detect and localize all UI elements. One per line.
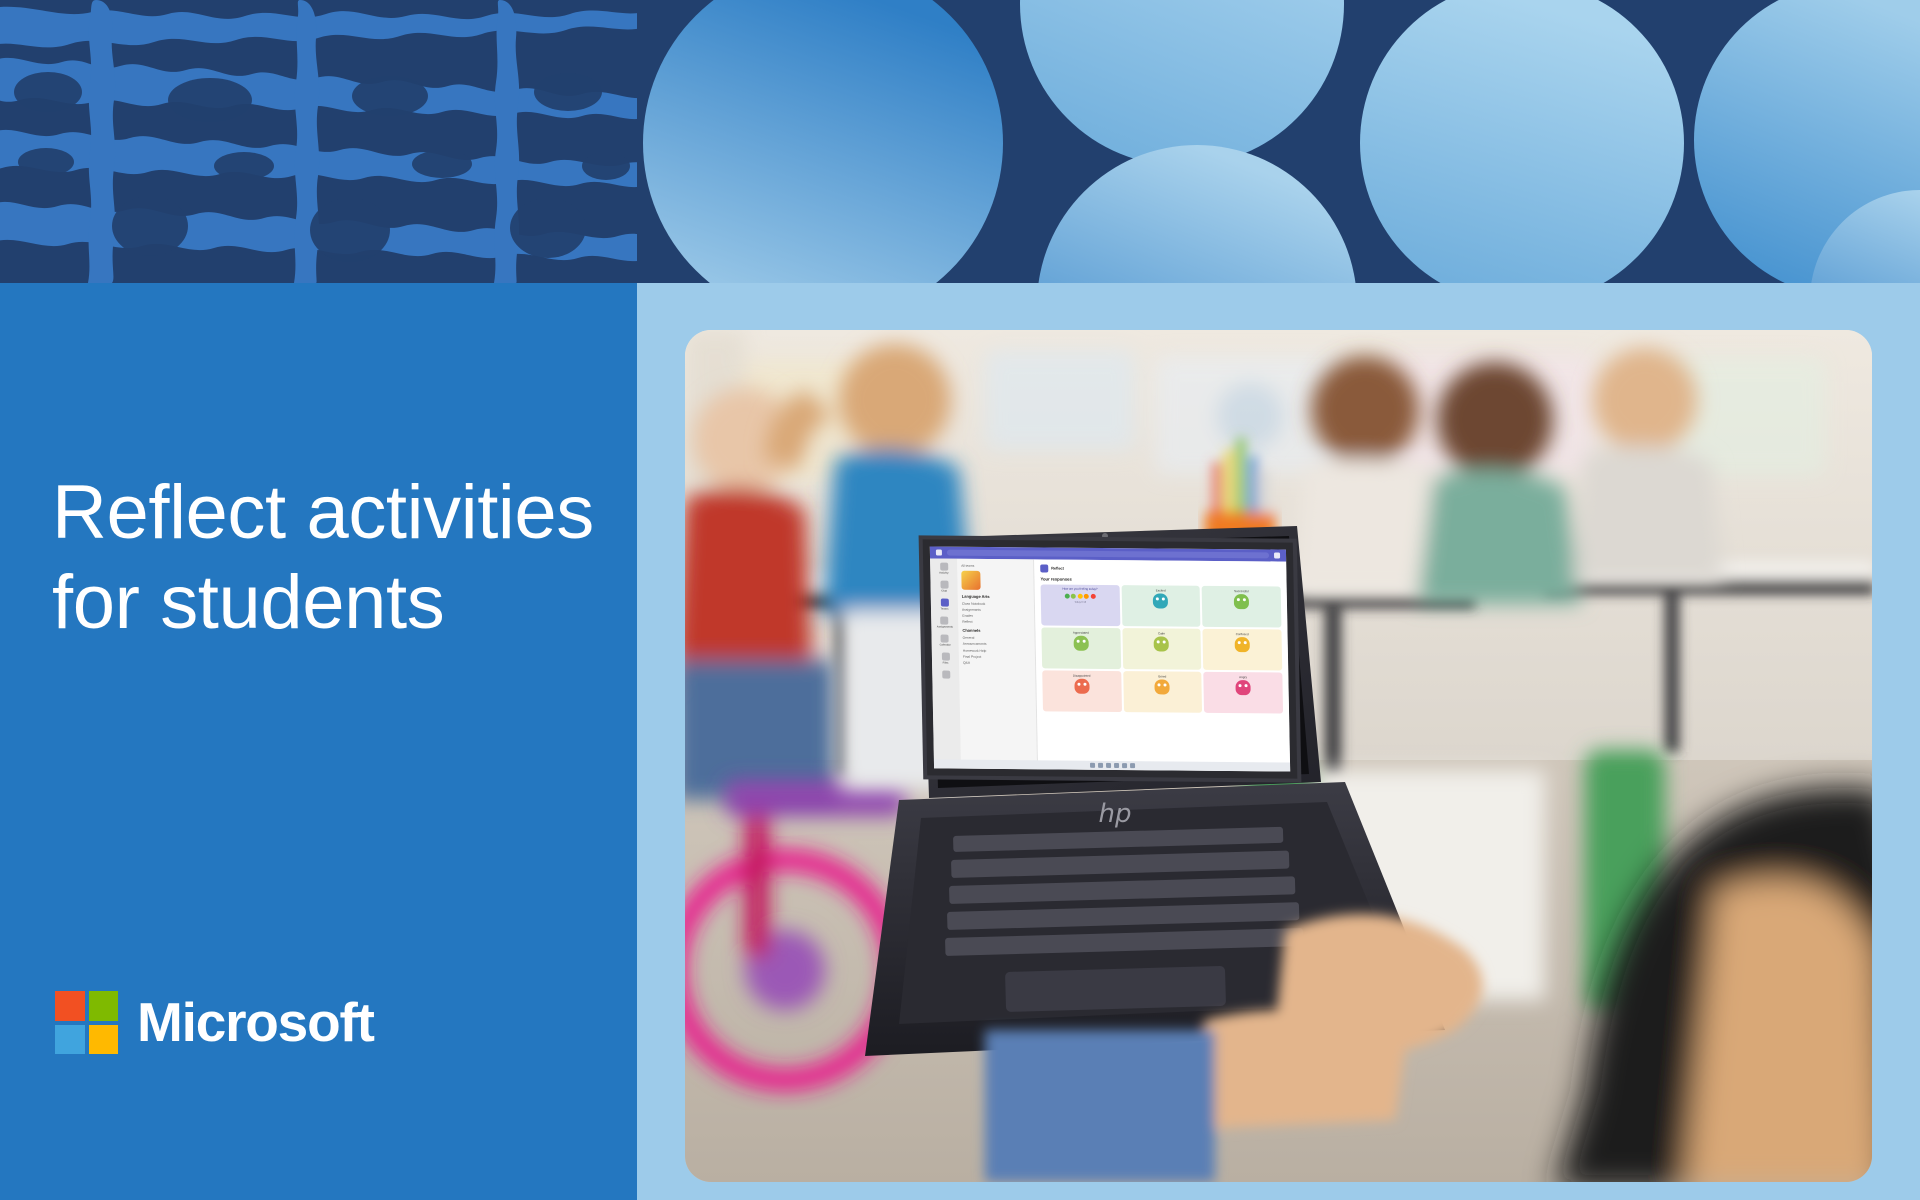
- scale-dot-2[interactable]: [1071, 593, 1076, 598]
- laptop-screen: Activity Chat Teams Assignments: [930, 546, 1290, 771]
- feeling-label: Appreciated: [1073, 631, 1089, 635]
- feeling-label: Angry: [1239, 675, 1247, 679]
- feeling-scale[interactable]: [1065, 593, 1096, 598]
- rail-label: Calendar: [940, 644, 951, 647]
- feeling-card[interactable]: Bored: [1123, 671, 1202, 713]
- title-panel: Reflect activities for students Microsof…: [0, 283, 637, 1200]
- rail-item-more[interactable]: [942, 671, 950, 679]
- calendar-icon: [941, 635, 949, 643]
- feeling-card[interactable]: Disappointed: [1042, 670, 1121, 712]
- feeling-character-icon: [1155, 679, 1170, 694]
- scale-dot-5[interactable]: [1091, 594, 1096, 599]
- rail-item-files[interactable]: Files: [941, 653, 949, 665]
- feeling-label: Successful: [1234, 589, 1249, 593]
- slide-canvas: Reflect activities for students Microsof…: [0, 0, 1920, 1200]
- feeling-card[interactable]: Confused: [1203, 629, 1282, 671]
- tab-reflect[interactable]: Reflect: [1051, 567, 1064, 571]
- search-icon[interactable]: [1097, 763, 1102, 768]
- rail-label: Teams: [940, 608, 948, 611]
- red-square: [55, 991, 85, 1021]
- decorative-texture-panel: [0, 0, 637, 283]
- feeling-character-icon: [1073, 636, 1088, 651]
- classroom-students-photo: hp: [685, 330, 1872, 1182]
- ellipsis-icon: [942, 671, 950, 679]
- microsoft-wordmark: Microsoft: [137, 995, 374, 1050]
- bell-icon: [940, 563, 948, 571]
- team-header[interactable]: [961, 571, 1029, 591]
- feeling-label: Disappointed: [1073, 674, 1091, 678]
- files-icon: [941, 653, 949, 661]
- section-title: Your responses: [1040, 576, 1280, 583]
- feeling-character-icon: [1154, 636, 1169, 651]
- all-teams-label[interactable]: All teams: [961, 564, 1029, 569]
- question-text: How are you feeling today?: [1062, 588, 1097, 592]
- feeling-card[interactable]: Calm: [1122, 628, 1201, 670]
- feeling-card[interactable]: Excited: [1121, 585, 1200, 627]
- teams-body: Activity Chat Teams Assignments: [930, 558, 1290, 771]
- rail-item-assignments[interactable]: Assignments: [936, 617, 953, 629]
- rail-label: Files: [943, 662, 949, 665]
- teams-channel-list: All teams Language Arts Class Notebook A…: [957, 559, 1038, 770]
- rail-label: Assignments: [937, 625, 953, 628]
- feeling-label: Excited: [1156, 588, 1166, 592]
- start-icon[interactable]: [1089, 763, 1094, 768]
- feeling-character-icon: [1236, 680, 1251, 695]
- feeling-label: Bored: [1158, 674, 1166, 678]
- feeling-card[interactable]: Appreciated: [1041, 627, 1120, 669]
- feeling-character-icon: [1235, 637, 1250, 652]
- svg-text:hp: hp: [1099, 799, 1132, 829]
- microsoft-logo-squares: [55, 991, 118, 1054]
- teams-icon: [940, 599, 948, 607]
- mail-icon[interactable]: [1130, 763, 1135, 768]
- organic-blob-texture: [0, 0, 637, 283]
- decorative-circles-panel: [637, 0, 1920, 283]
- avatar[interactable]: [1274, 552, 1280, 558]
- feeling-character-icon: [1234, 594, 1249, 609]
- rail-item-calendar[interactable]: Calendar: [939, 635, 950, 647]
- photo-panel: hp: [637, 283, 1920, 1200]
- rail-label: Activity: [939, 572, 948, 575]
- rail-item-activity[interactable]: Activity: [939, 563, 949, 575]
- teams-app-rail: Activity Chat Teams Assignments: [930, 558, 961, 768]
- teams-search-input[interactable]: [947, 550, 1269, 559]
- channel-item[interactable]: Reflect: [962, 619, 1030, 626]
- microsoft-logo: Microsoft: [55, 991, 374, 1054]
- rail-label: Chat: [941, 590, 947, 593]
- feeling-character-icon: [1074, 679, 1089, 694]
- scale-dot-3[interactable]: [1078, 594, 1083, 599]
- feeling-card[interactable]: Angry: [1204, 672, 1283, 714]
- edge-icon[interactable]: [1113, 763, 1118, 768]
- green-square: [89, 991, 119, 1021]
- question-timestamp: Today 9:18: [1074, 600, 1086, 603]
- rail-item-teams[interactable]: Teams: [940, 599, 948, 611]
- teams-logo-icon: [936, 550, 942, 556]
- rail-item-chat[interactable]: Chat: [940, 581, 948, 593]
- chat-icon: [940, 581, 948, 589]
- channel-item[interactable]: Q&A: [963, 659, 1031, 666]
- channels-header: Channels: [962, 628, 1030, 634]
- clipboard-icon: [941, 617, 949, 625]
- page-title: Reflect activities for students: [52, 468, 612, 647]
- team-avatar: [961, 571, 980, 590]
- teams-taskbar-icon[interactable]: [1121, 763, 1126, 768]
- feeling-card[interactable]: Successful: [1202, 586, 1281, 628]
- feeling-character-icon: [1153, 593, 1168, 608]
- reflect-icon: [1040, 564, 1048, 572]
- scale-dot-4[interactable]: [1084, 594, 1089, 599]
- question-card[interactable]: How are you feeling today? Today 9:18: [1041, 584, 1120, 626]
- yellow-square: [89, 1025, 119, 1055]
- reflect-tab-header: Reflect: [1040, 564, 1280, 574]
- explorer-icon[interactable]: [1105, 763, 1110, 768]
- team-name: Language Arts: [962, 594, 1030, 600]
- blue-square: [55, 1025, 85, 1055]
- reflect-app-pane: Reflect Your responses How are you feeli…: [1034, 559, 1290, 771]
- scale-dot-1[interactable]: [1065, 593, 1070, 598]
- feeling-label: Calm: [1158, 631, 1165, 635]
- feeling-label: Confused: [1236, 632, 1249, 636]
- gradient-circles-pattern: [637, 0, 1920, 283]
- feelings-grid: How are you feeling today? Today 9:18: [1041, 584, 1284, 713]
